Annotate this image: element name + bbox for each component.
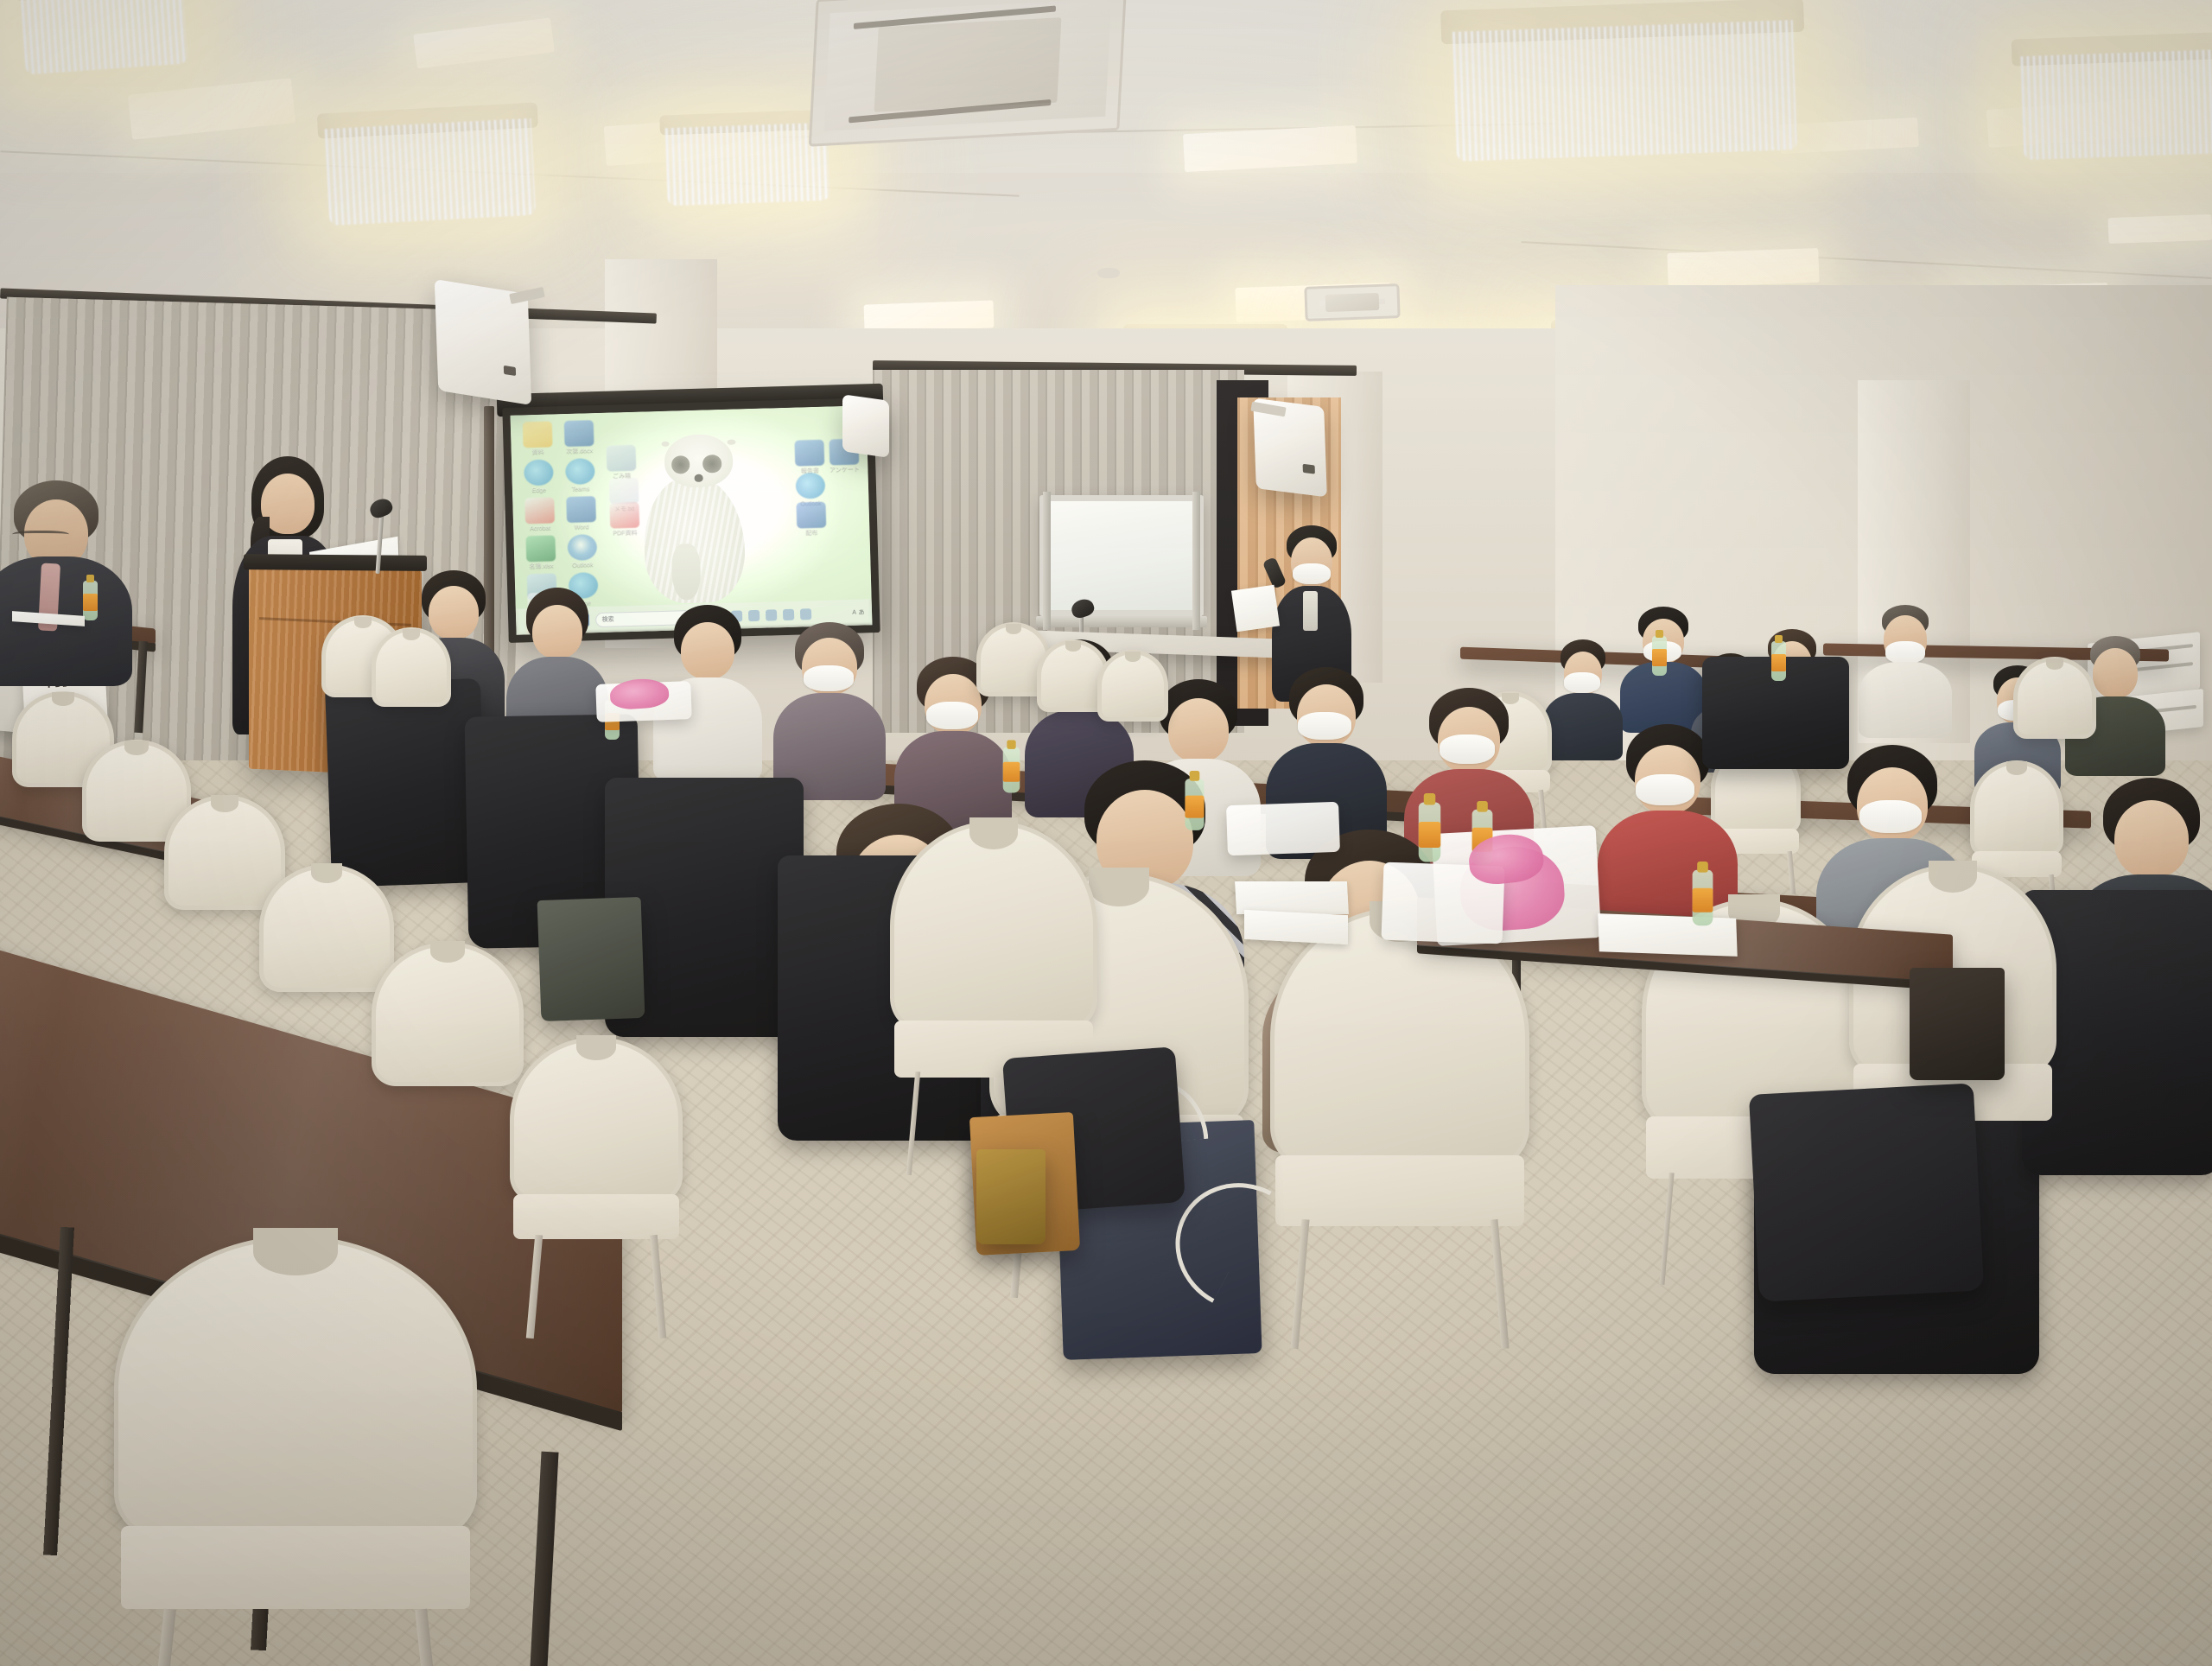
system-tray[interactable]: A あ	[852, 607, 865, 616]
eyeglasses-icon	[12, 531, 69, 540]
seated-official	[0, 480, 130, 671]
edge-icon[interactable]	[799, 608, 810, 620]
panel-light	[2108, 214, 2212, 244]
chandelier	[14, 0, 193, 75]
handout-papers	[1235, 881, 1349, 914]
chandelier	[317, 102, 543, 226]
desktop-icon[interactable]: PDF資料	[604, 502, 645, 537]
word-icon	[794, 440, 824, 467]
chrome-icon	[567, 534, 597, 561]
face-mask	[1564, 672, 1600, 693]
necktie	[1303, 591, 1318, 631]
desktop-icon[interactable]: Outlook	[562, 534, 602, 569]
edge-icon	[796, 473, 826, 499]
tea-bottle	[83, 581, 98, 620]
banquet-chair	[372, 627, 451, 734]
banquet-chair-foreground	[114, 1236, 477, 1650]
face-mask	[1885, 641, 1925, 664]
explorer-icon[interactable]	[782, 608, 793, 620]
pdf-icon	[524, 497, 555, 524]
edge-icon	[524, 459, 554, 486]
tea-bottle	[1771, 641, 1786, 681]
air-conditioner-cassette	[809, 0, 1127, 147]
excel-icon	[525, 535, 556, 562]
face-mask	[804, 665, 854, 691]
word-icon	[564, 420, 594, 447]
banquet-chair	[1097, 650, 1168, 747]
white-pouch	[1226, 802, 1340, 856]
whiteboard-leg	[1043, 492, 1051, 630]
desktop-icon[interactable]: 配布	[791, 501, 831, 537]
whiteboard-marker-tray	[1036, 616, 1207, 627]
yellow-bag	[976, 1149, 1046, 1244]
air-conditioner-cassette	[1304, 283, 1400, 321]
tea-bottle	[1185, 779, 1204, 830]
handout-papers	[1244, 910, 1348, 944]
desktop-icon[interactable]: Teams	[560, 458, 601, 493]
banquet-chair	[2013, 657, 2096, 767]
tea-bottle	[1003, 747, 1020, 793]
face-mask	[926, 702, 978, 729]
teams-icon	[565, 458, 595, 485]
podium-top-surface	[244, 554, 427, 571]
smoke-detector	[1097, 268, 1120, 278]
chat-icon[interactable]	[765, 609, 776, 620]
desktop-icon[interactable]: 名簿.xlsx	[520, 535, 561, 570]
whiteboard-leg	[1192, 492, 1200, 630]
banquet-chair	[1270, 907, 1529, 1262]
olive-bag	[537, 897, 645, 1021]
pdf-icon	[609, 502, 639, 529]
tea-bottle	[1652, 636, 1667, 676]
face-mask	[1298, 712, 1351, 740]
notepad-icon	[609, 478, 639, 505]
attendee	[778, 622, 881, 786]
seminar-room-photo: 資料 Edge Acrobat 名簿.xlsx 写真 発表.pptx Chrom…	[0, 0, 2212, 1666]
desktop-icon[interactable]: 次第.docx	[559, 420, 600, 455]
tea-bottle	[1419, 803, 1441, 862]
folder-icon	[523, 421, 553, 448]
banquet-chair	[510, 1037, 683, 1262]
chandelier	[2012, 29, 2212, 160]
desktop-icon[interactable]: Word	[561, 496, 601, 531]
face-mask	[1440, 734, 1495, 764]
desktop-icon[interactable]: ごみ箱	[601, 445, 642, 480]
chandelier	[1440, 0, 1808, 162]
meerkat-wallpaper-subject	[628, 433, 765, 612]
face-mask	[1859, 800, 1922, 833]
ceiling-seam	[1521, 241, 2211, 279]
face-mask	[1636, 774, 1694, 805]
black-backpack	[1749, 1083, 1984, 1301]
word-icon	[566, 496, 596, 523]
desktop-icon[interactable]: 資料	[518, 421, 558, 456]
handbag	[1910, 968, 2005, 1080]
word-icon	[796, 502, 826, 529]
banquet-chair	[372, 942, 524, 1137]
handout-papers	[1598, 913, 1737, 957]
pa-speaker-center	[842, 394, 889, 458]
desktop-icon[interactable]: Acrobat	[519, 497, 560, 532]
tea-bottle	[1693, 870, 1713, 925]
recycle-bin-icon	[607, 445, 637, 472]
mc-papers	[1231, 585, 1280, 632]
face-mask	[1293, 563, 1331, 584]
attendee	[1866, 605, 1944, 717]
desktop-icon[interactable]: Edge	[518, 459, 559, 494]
whiteboard[interactable]	[1039, 495, 1204, 616]
panel-light	[1667, 248, 1819, 288]
whiteboard-surface[interactable]	[1039, 495, 1204, 616]
